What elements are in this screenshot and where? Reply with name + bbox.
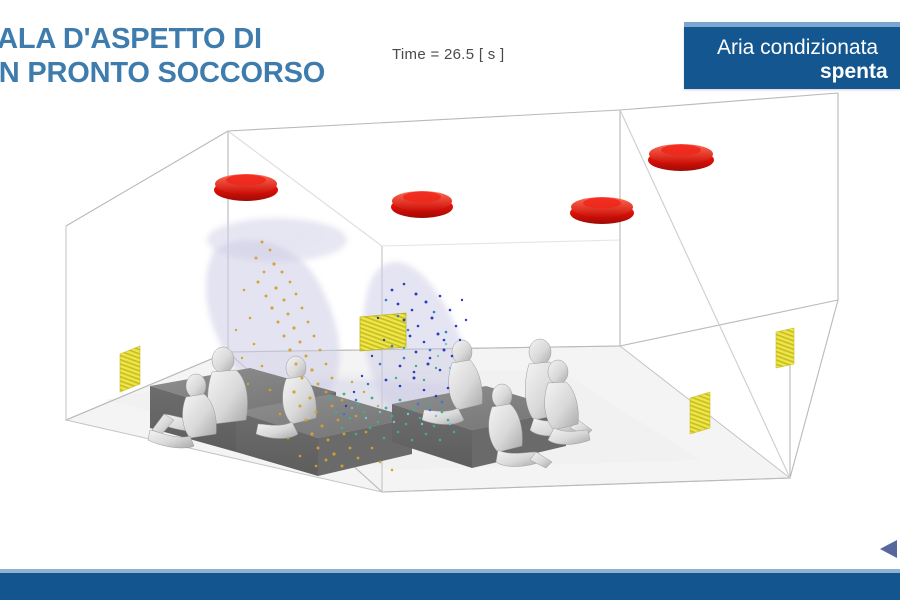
triangle-left-icon[interactable] <box>880 540 897 558</box>
ceiling-diffuser-back-left <box>648 144 714 171</box>
ceiling-diffuser-front-right <box>391 191 453 218</box>
wall-vent-left <box>120 346 140 392</box>
ceiling-diffuser-back-right <box>570 197 634 224</box>
wall-vent-center <box>360 313 406 351</box>
bottom-bar-strip <box>0 569 900 573</box>
banner-top-strip <box>684 22 900 27</box>
banner-label-line2: spenta <box>820 60 888 84</box>
simulation-time-label: Time = 26.5 [ s ] <box>392 46 505 63</box>
banner-label-line1: Aria condizionata <box>717 36 878 60</box>
wall-vent-right-floor <box>690 392 710 434</box>
ceiling-diffuser-front-left <box>214 174 278 201</box>
page-title: SALA D'ASPETTO DI UN PRONTO SOCCORSO <box>0 22 408 90</box>
bottom-bar <box>0 573 900 600</box>
status-banner: Aria condizionata spenta <box>684 27 900 89</box>
wall-vent-right-back <box>776 328 794 368</box>
